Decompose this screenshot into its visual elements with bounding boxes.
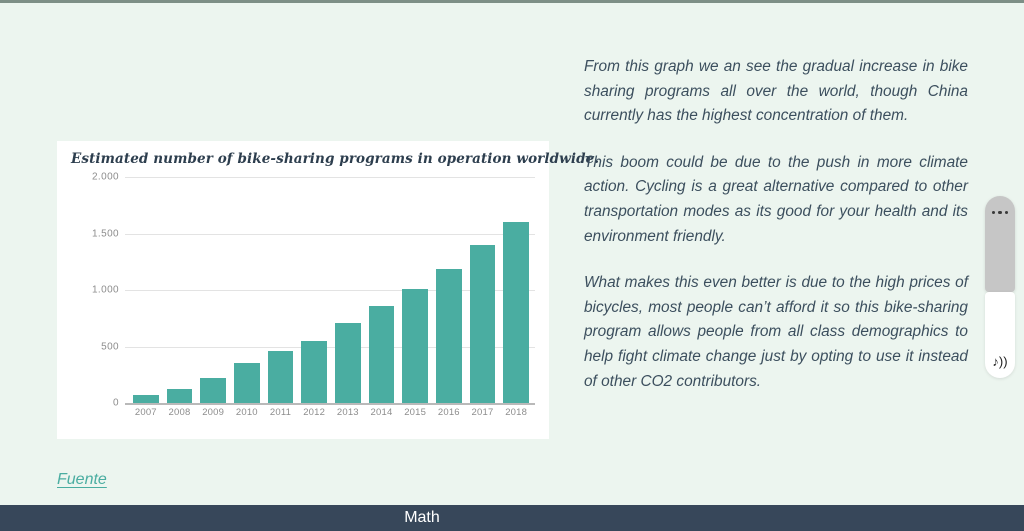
chart-bar	[133, 395, 159, 403]
chart-bar	[402, 289, 428, 403]
more-options-icon[interactable]	[985, 211, 1015, 214]
bar-slot	[297, 177, 331, 403]
commentary-paragraph-3: What makes this even better is due to th…	[584, 271, 968, 394]
chart-bar	[436, 269, 462, 403]
x-axis-tick-label: 2016	[432, 407, 466, 418]
y-axis-tick-label: 1.500	[59, 228, 119, 239]
chart-bar	[167, 389, 193, 403]
bottom-bar-label: Math	[0, 505, 1024, 531]
sound-on-icon[interactable]: ♪))	[985, 355, 1015, 368]
x-axis-tick-label: 2014	[365, 407, 399, 418]
commentary-text-block: From this graph we an see the gradual in…	[584, 55, 968, 394]
floating-toolbar-widget[interactable]: ♪))	[985, 196, 1015, 378]
x-axis-tick-label: 2017	[466, 407, 500, 418]
bar-slot	[196, 177, 230, 403]
y-axis-tick-label: 1.000	[59, 285, 119, 296]
chart-bar	[301, 341, 327, 403]
chart-bar	[200, 378, 226, 403]
chart-card: Estimated number of bike-sharing program…	[57, 141, 549, 439]
chart-bar	[268, 351, 294, 403]
y-axis-tick-label: 2.000	[59, 172, 119, 183]
commentary-paragraph-1: From this graph we an see the gradual in…	[584, 55, 968, 129]
chart-bar	[335, 323, 361, 403]
x-axis-tick-label: 2012	[297, 407, 331, 418]
y-axis-tick-label: 500	[59, 341, 119, 352]
chart-bar	[503, 222, 529, 403]
bar-slot	[432, 177, 466, 403]
bar-chart-plot: 2.0001.5001.0005000 20072008200920102011…	[57, 177, 549, 439]
x-axis-tick-label: 2015	[398, 407, 432, 418]
x-axis-tick-label: 2007	[129, 407, 163, 418]
bar-slot	[466, 177, 500, 403]
x-axis-tick-label: 2011	[264, 407, 298, 418]
x-axis-tick-label: 2018	[499, 407, 533, 418]
commentary-paragraph-2: This boom could be due to the push in mo…	[584, 151, 968, 249]
chart-bar	[234, 363, 260, 403]
bar-slot	[398, 177, 432, 403]
bar-slot	[230, 177, 264, 403]
widget-menu-section[interactable]	[985, 196, 1015, 292]
bottom-bar: Math	[0, 505, 1024, 531]
bar-slot	[499, 177, 533, 403]
chart-bar	[470, 245, 496, 403]
x-axis-tick-label: 2013	[331, 407, 365, 418]
slide-canvas: Estimated number of bike-sharing program…	[0, 0, 1024, 531]
x-axis-tick-label: 2008	[163, 407, 197, 418]
bars-group	[129, 177, 533, 403]
x-axis-tick-label: 2009	[196, 407, 230, 418]
chart-title: Estimated number of bike-sharing program…	[71, 151, 531, 167]
bar-slot	[365, 177, 399, 403]
top-edge-strip	[0, 0, 1024, 3]
widget-sound-section[interactable]: ♪))	[985, 292, 1015, 378]
bar-slot	[264, 177, 298, 403]
source-link[interactable]: Fuente	[57, 471, 107, 489]
bar-slot	[163, 177, 197, 403]
bar-slot	[129, 177, 163, 403]
axis-baseline	[125, 403, 535, 405]
bar-slot	[331, 177, 365, 403]
x-axis-tick-label: 2010	[230, 407, 264, 418]
y-axis-tick-label: 0	[59, 398, 119, 409]
chart-bar	[369, 306, 395, 403]
